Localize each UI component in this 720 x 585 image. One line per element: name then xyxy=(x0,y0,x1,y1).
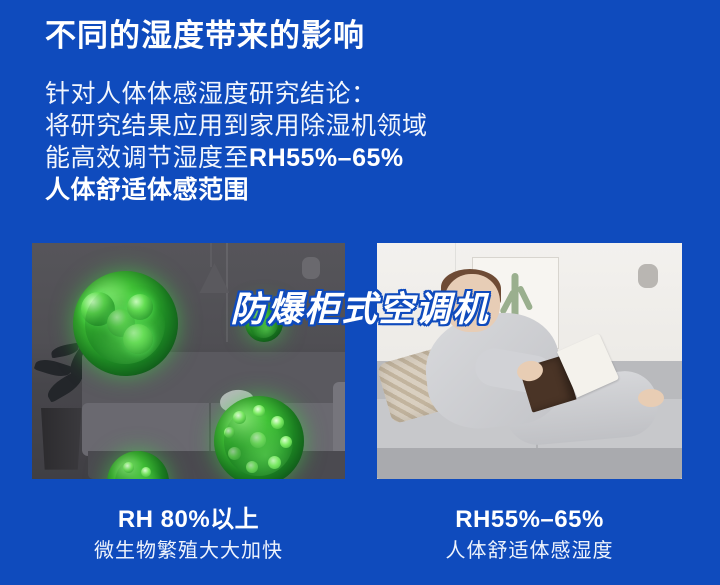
body-line-2: 将研究结果应用到家用除湿机领域 xyxy=(45,110,428,142)
photo-right-comfort-humidity xyxy=(377,243,682,479)
germ-icon xyxy=(73,271,178,376)
germ-icon xyxy=(245,304,283,342)
germ-icon xyxy=(214,396,304,479)
person-foot xyxy=(638,389,664,407)
wall-knob-icon xyxy=(638,264,658,288)
sofa-arm-right xyxy=(333,382,345,456)
germ-dot xyxy=(224,427,235,438)
germ-dot xyxy=(233,411,246,424)
body-line-3: 能高效调节湿度至RH55%–65% xyxy=(45,142,428,174)
germ-dot xyxy=(250,432,266,448)
body-line-3-highlight: RH55%–65% xyxy=(249,144,404,172)
germ-dot xyxy=(246,461,258,473)
caption-right: RH55%–65% 人体舒适体感湿度 xyxy=(377,505,682,565)
germ-cell xyxy=(107,309,135,337)
body-line-4: 人体舒适体感范围 xyxy=(45,174,428,206)
body-line-3-prefix: 能高效调节湿度至 xyxy=(45,144,249,172)
germ-dot xyxy=(123,462,134,473)
body-line-1: 针对人体体感湿度研究结论： xyxy=(45,78,428,110)
germ-cell xyxy=(81,292,115,326)
caption-right-main: RH55%–65% xyxy=(377,505,682,535)
sofa-seat xyxy=(82,403,345,457)
poster-root: 不同的湿度带来的影响 针对人体体感湿度研究结论： 将研究结果应用到家用除湿机领域… xyxy=(0,0,720,585)
person-head xyxy=(444,274,500,332)
wall-knob-icon xyxy=(302,257,320,279)
germ-dot xyxy=(253,405,265,417)
germ-cell xyxy=(127,294,153,320)
caption-right-sub: 人体舒适体感湿度 xyxy=(377,537,682,565)
germ-dot xyxy=(228,447,241,460)
photo-left-high-humidity xyxy=(32,243,345,479)
body-copy: 针对人体体感湿度研究结论： 将研究结果应用到家用除湿机领域 能高效调节湿度至RH… xyxy=(45,78,428,206)
caption-left-main: RH 80%以上 xyxy=(32,505,345,535)
caption-left: RH 80%以上 微生物繁殖大大加快 xyxy=(32,505,345,565)
caption-left-sub: 微生物繁殖大大加快 xyxy=(32,537,345,565)
pendant-cord xyxy=(210,243,212,267)
plant-pot xyxy=(38,408,84,470)
germ-dot xyxy=(280,436,292,448)
germ-cell xyxy=(123,324,153,354)
page-title: 不同的湿度带来的影响 xyxy=(45,17,365,54)
sofa-cushion-seam xyxy=(209,403,211,454)
germ-dot xyxy=(271,416,284,429)
sofa-base xyxy=(377,448,682,479)
germ-dot xyxy=(141,467,151,477)
cactus-arm xyxy=(517,285,534,311)
germ-dot xyxy=(268,456,281,469)
